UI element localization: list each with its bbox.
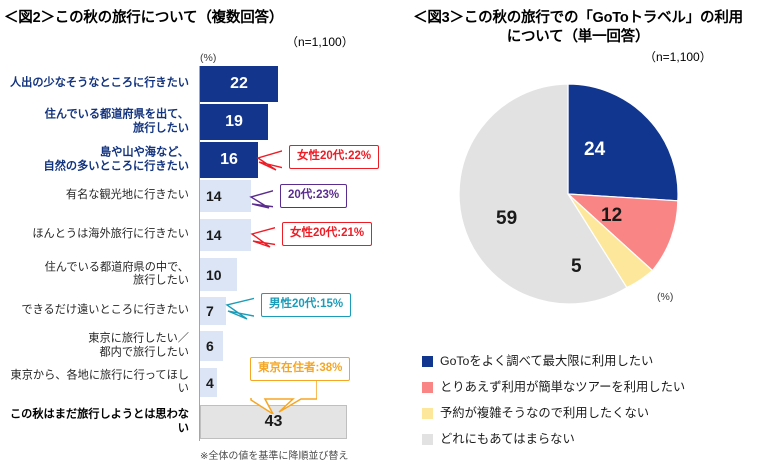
legend-swatch-icon <box>422 434 433 445</box>
bar-label: 住んでいる都道府県を出て、 旅行したい <box>4 108 196 135</box>
bar-label: 人出の少なそうなところに行きたい <box>4 77 196 91</box>
figure-2-panel: ＜図2＞この秋の旅行について（複数回答） （n=1,100） (%) 人出の少な… <box>0 0 395 468</box>
callout-tokyo-38: 東京在住者:38% <box>250 357 350 381</box>
legend-swatch-icon <box>422 356 433 367</box>
bar-rect[interactable]: 7 <box>200 297 226 325</box>
callout-women20s-21: 女性20代:21% <box>282 222 372 246</box>
bar-label: 有名な観光地に行きたい <box>4 189 196 203</box>
legend-item-easy-tour[interactable]: とりあえず利用が簡単なツアーを利用したい <box>422 374 760 400</box>
pie-chart: 24 12 5 59 (%) GoToをよく調べて最大限に利用したい とりあえず… <box>395 0 760 468</box>
bar-value: 22 <box>200 75 278 93</box>
callout-women20s-22: 女性20代:22% <box>289 145 379 169</box>
bar-label: ほんとうは海外旅行に行きたい <box>4 228 196 242</box>
pie-value-text: 59 <box>496 208 517 229</box>
bar-value: 10 <box>206 267 222 283</box>
pie-value-easy-tour: 12 <box>601 205 622 227</box>
bar-label: できるだけ遠いところに行きたい <box>4 304 196 318</box>
pie-chart-unit-label: (%) <box>657 291 673 303</box>
callout-text: 女性20代:21% <box>290 227 364 239</box>
callout-20s-23: 20代:23% <box>280 184 347 208</box>
bar-label: 東京から、各地に旅行に行ってほしい <box>4 369 196 396</box>
bar-rect[interactable]: 14 <box>200 180 251 212</box>
pie-value-complex-booking: 5 <box>571 256 582 278</box>
pie-value-none-apply: 59 <box>496 208 517 230</box>
bar-rect[interactable]: 14 <box>200 219 251 251</box>
bar-label-line: 島や山や海など、 <box>4 146 189 160</box>
bar-label: 島や山や海など、 自然の多いところに行きたい <box>4 146 196 173</box>
bar-rect[interactable]: 10 <box>200 258 237 291</box>
table-row: 住んでいる都道府県の中で、 旅行したい 10 <box>0 258 395 291</box>
figure-2-sample-size: （n=1,100） <box>286 33 354 50</box>
callout-men20s-15: 男性20代:15% <box>261 293 351 317</box>
pie-chart-svg <box>457 83 679 305</box>
pie-value-text: 5 <box>571 256 582 277</box>
bar-rect[interactable]: 6 <box>200 331 223 361</box>
legend-label: とりあえず利用が簡単なツアーを利用したい <box>440 381 685 393</box>
legend-label: GoToをよく調べて最大限に利用したい <box>440 355 653 367</box>
bar-rect[interactable]: 22 <box>200 66 278 102</box>
bar-label: 東京に旅行したい／ 都内で旅行したい <box>4 332 196 359</box>
bar-chart-footnote: ※全体の値を基準に降順並び替え <box>200 447 348 462</box>
bar-rect[interactable]: 16 <box>200 142 258 178</box>
legend-label: 予約が複雑そうなので利用したくない <box>440 407 649 419</box>
bar-chart: (%) 人出の少なそうなところに行きたい 22 住んでいる都道府県を出て、 旅行… <box>0 52 395 452</box>
bar-label-line: 都内で旅行したい <box>4 346 189 360</box>
bar-chart-unit-label: (%) <box>200 52 216 64</box>
pie-value-text: 24 <box>584 139 605 160</box>
bar-value: 19 <box>200 113 268 131</box>
bar-label-line: できるだけ遠いところに行きたい <box>21 304 189 316</box>
bar-rect[interactable]: 4 <box>200 368 217 397</box>
bar-label-line: 住んでいる都道府県を出て、 <box>4 108 189 122</box>
bar-label: この秋はまだ旅行しようとは思わない <box>4 408 196 435</box>
bar-label-line: ほんとうは海外旅行に行きたい <box>32 228 189 240</box>
figure-3-panel: ＜図3＞この秋の旅行での「GoToトラベル」の利用について（単一回答） （n=1… <box>395 0 760 468</box>
bar-label-line: 東京に旅行したい／ <box>4 332 189 346</box>
bar-value: 16 <box>200 151 258 169</box>
bar-label-line: 人出の少なそうなところに行きたい <box>10 77 189 89</box>
bar-rect[interactable]: 43 <box>200 405 347 439</box>
pie-chart-legend: GoToをよく調べて最大限に利用したい とりあえず利用が簡単なツアーを利用したい… <box>422 348 760 452</box>
bar-value: 14 <box>206 227 222 243</box>
bar-label-line: 東京から、各地に旅行に行ってほしい <box>11 369 189 395</box>
pie-value-goto-max: 24 <box>584 139 605 161</box>
bar-label: 住んでいる都道府県の中で、 旅行したい <box>4 261 196 288</box>
bar-value: 7 <box>206 303 214 319</box>
legend-item-complex-booking[interactable]: 予約が複雑そうなので利用したくない <box>422 400 760 426</box>
callout-text: 女性20代:22% <box>297 150 371 162</box>
bar-label-line: この秋はまだ旅行しようとは思わない <box>10 408 189 434</box>
table-row: 住んでいる都道府県を出て、 旅行したい 19 <box>0 104 395 140</box>
legend-item-goto-max[interactable]: GoToをよく調べて最大限に利用したい <box>422 348 760 374</box>
figure-2-title: ＜図2＞この秋の旅行について（複数回答） <box>4 9 283 28</box>
bar-label-line: 旅行したい <box>4 275 189 289</box>
bar-value: 6 <box>206 338 214 354</box>
bar-value: 4 <box>206 375 214 391</box>
table-row: この秋はまだ旅行しようとは思わない 43 <box>0 405 395 439</box>
legend-swatch-icon <box>422 382 433 393</box>
callout-text: 東京在住者:38% <box>258 362 342 374</box>
bar-label-line: 旅行したい <box>4 122 189 136</box>
legend-label: どれにもあてはまらない <box>440 433 575 445</box>
bar-label-line: 自然の多いところに行きたい <box>4 160 189 174</box>
legend-item-none-apply[interactable]: どれにもあてはまらない <box>422 426 760 452</box>
callout-text: 男性20代:15% <box>269 298 343 310</box>
pie-value-text: 12 <box>601 205 622 226</box>
bar-value: 14 <box>206 188 222 204</box>
bar-label-line: 有名な観光地に行きたい <box>66 189 189 201</box>
bar-label-line: 住んでいる都道府県の中で、 <box>4 261 189 275</box>
table-row: 人出の少なそうなところに行きたい 22 <box>0 66 395 102</box>
bar-rect[interactable]: 19 <box>200 104 268 140</box>
callout-text: 20代:23% <box>288 189 339 201</box>
bar-value: 43 <box>201 413 346 431</box>
legend-swatch-icon <box>422 408 433 419</box>
